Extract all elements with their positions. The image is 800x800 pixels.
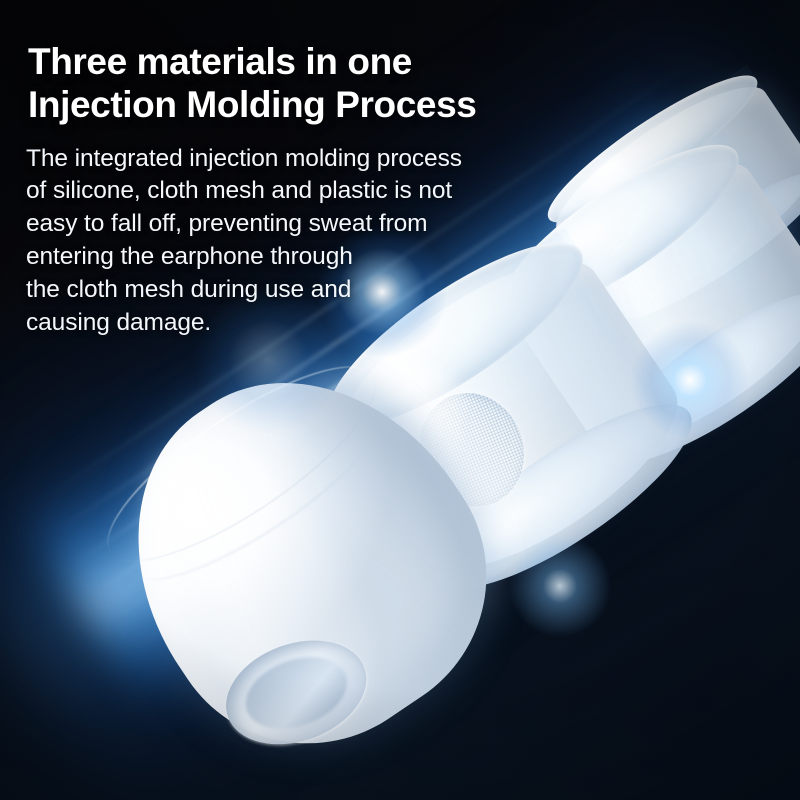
body-line-6: causing damage. — [26, 307, 620, 340]
copy-block: Three materials in one Injection Molding… — [0, 0, 620, 340]
product-marketing-image: Three materials in one Injection Molding… — [0, 0, 800, 800]
body-line-5: the cloth mesh during use and — [26, 274, 620, 307]
body-line-2: of silicone, cloth mesh and plastic is n… — [26, 175, 620, 208]
body-line-3: easy to fall off, preventing sweat from — [26, 208, 620, 241]
description-text: The integrated injection molding process… — [0, 127, 620, 340]
headline-line-2: Injection Molding Process — [28, 83, 620, 126]
page-title: Three materials in one Injection Molding… — [0, 0, 620, 127]
body-line-1: The integrated injection molding process — [26, 143, 620, 176]
headline-line-1: Three materials in one — [28, 40, 620, 83]
body-line-4: entering the earphone through — [26, 241, 620, 274]
